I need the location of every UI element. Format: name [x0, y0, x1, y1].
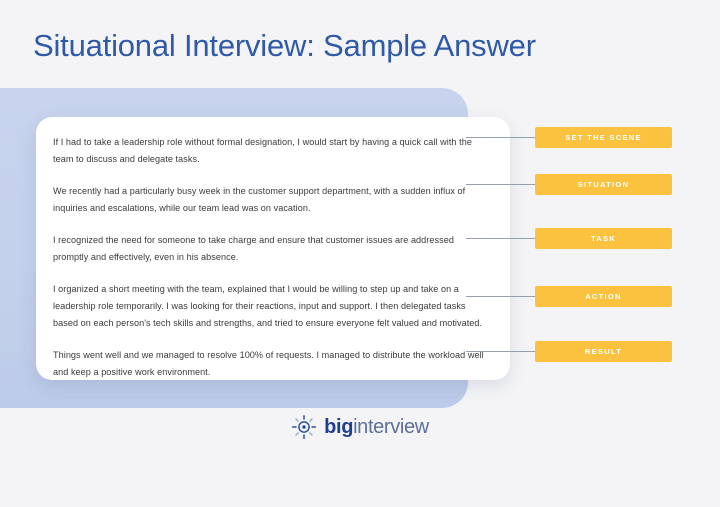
page-title: Situational Interview: Sample Answer — [33, 28, 536, 64]
connector-line-task — [466, 238, 536, 239]
step-label-set-the-scene[interactable]: SET THE SCENE — [535, 127, 672, 148]
step-label-situation[interactable]: SITUATION — [535, 174, 672, 195]
connector-line-set-the-scene — [466, 137, 536, 138]
logo-text-interview: interview — [353, 416, 429, 438]
connector-line-situation — [466, 184, 536, 185]
connector-line-result — [466, 351, 536, 352]
step-label-task[interactable]: TASK — [535, 228, 672, 249]
logo-wordmark: biginterview — [324, 417, 429, 437]
answer-paragraph-set-the-scene: If I had to take a leadership role witho… — [53, 134, 484, 168]
answer-paragraph-action: I organized a short meeting with the tea… — [53, 281, 484, 332]
step-label-result[interactable]: RESULT — [535, 341, 672, 362]
step-label-action[interactable]: ACTION — [535, 286, 672, 307]
answer-paragraph-situation: We recently had a particularly busy week… — [53, 183, 484, 217]
sun-icon — [291, 414, 317, 440]
answer-paragraph-result: Things went well and we managed to resol… — [53, 347, 484, 381]
logo-text-big: big — [324, 416, 353, 438]
answer-paragraph-task: I recognized the need for someone to tak… — [53, 232, 484, 266]
answer-card: If I had to take a leadership role witho… — [36, 117, 510, 380]
connector-line-action — [466, 296, 536, 297]
infographic-canvas: Situational Interview: Sample Answer If … — [0, 0, 720, 507]
footer-logo: biginterview — [0, 414, 720, 440]
